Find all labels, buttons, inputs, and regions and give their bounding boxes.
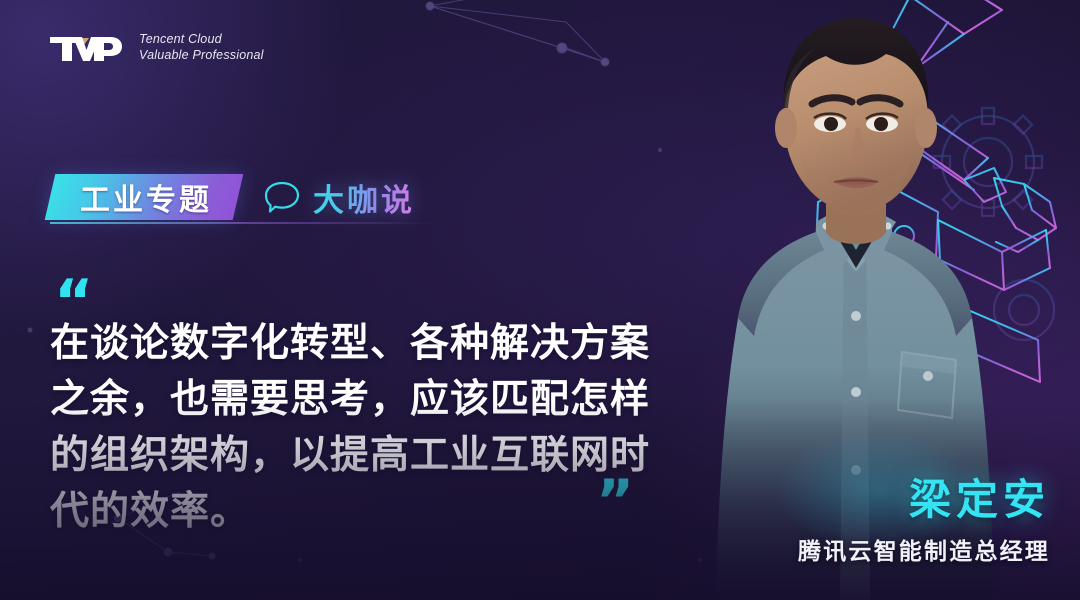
speech-bubble-icon	[264, 181, 300, 213]
topic-badge-row: 工业专题 大咖说	[50, 172, 415, 222]
tvp-logo: Tencent Cloud Valuable Professional	[48, 32, 264, 63]
tvp-logo-line2: Valuable Professional	[139, 48, 264, 64]
tvp-logo-line1: Tencent Cloud	[139, 32, 264, 48]
quote-close-mark: ”	[596, 472, 632, 530]
speaker-block: 梁定安 腾讯云智能制造总经理	[798, 477, 1050, 566]
column-label: 大咖说	[313, 175, 415, 220]
column-badge: 大咖说	[264, 175, 415, 220]
robot-arm-wireframe	[788, 0, 1080, 420]
poster-canvas: Tencent Cloud Valuable Professional 工业专题…	[0, 0, 1080, 600]
badge-underline	[50, 222, 435, 224]
quote-text: 在谈论数字化转型、各种解决方案之余，也需要思考，应该匹配怎样的组织架构，以提高工…	[50, 316, 662, 541]
speaker-name: 梁定安	[798, 477, 1050, 523]
topic-tag: 工业专题	[45, 174, 244, 220]
tvp-logo-text: Tencent Cloud Valuable Professional	[139, 32, 264, 63]
speaker-title: 腾讯云智能制造总经理	[798, 532, 1050, 566]
tvp-logo-mark	[48, 33, 126, 63]
topic-tag-label: 工业专题	[80, 175, 212, 219]
